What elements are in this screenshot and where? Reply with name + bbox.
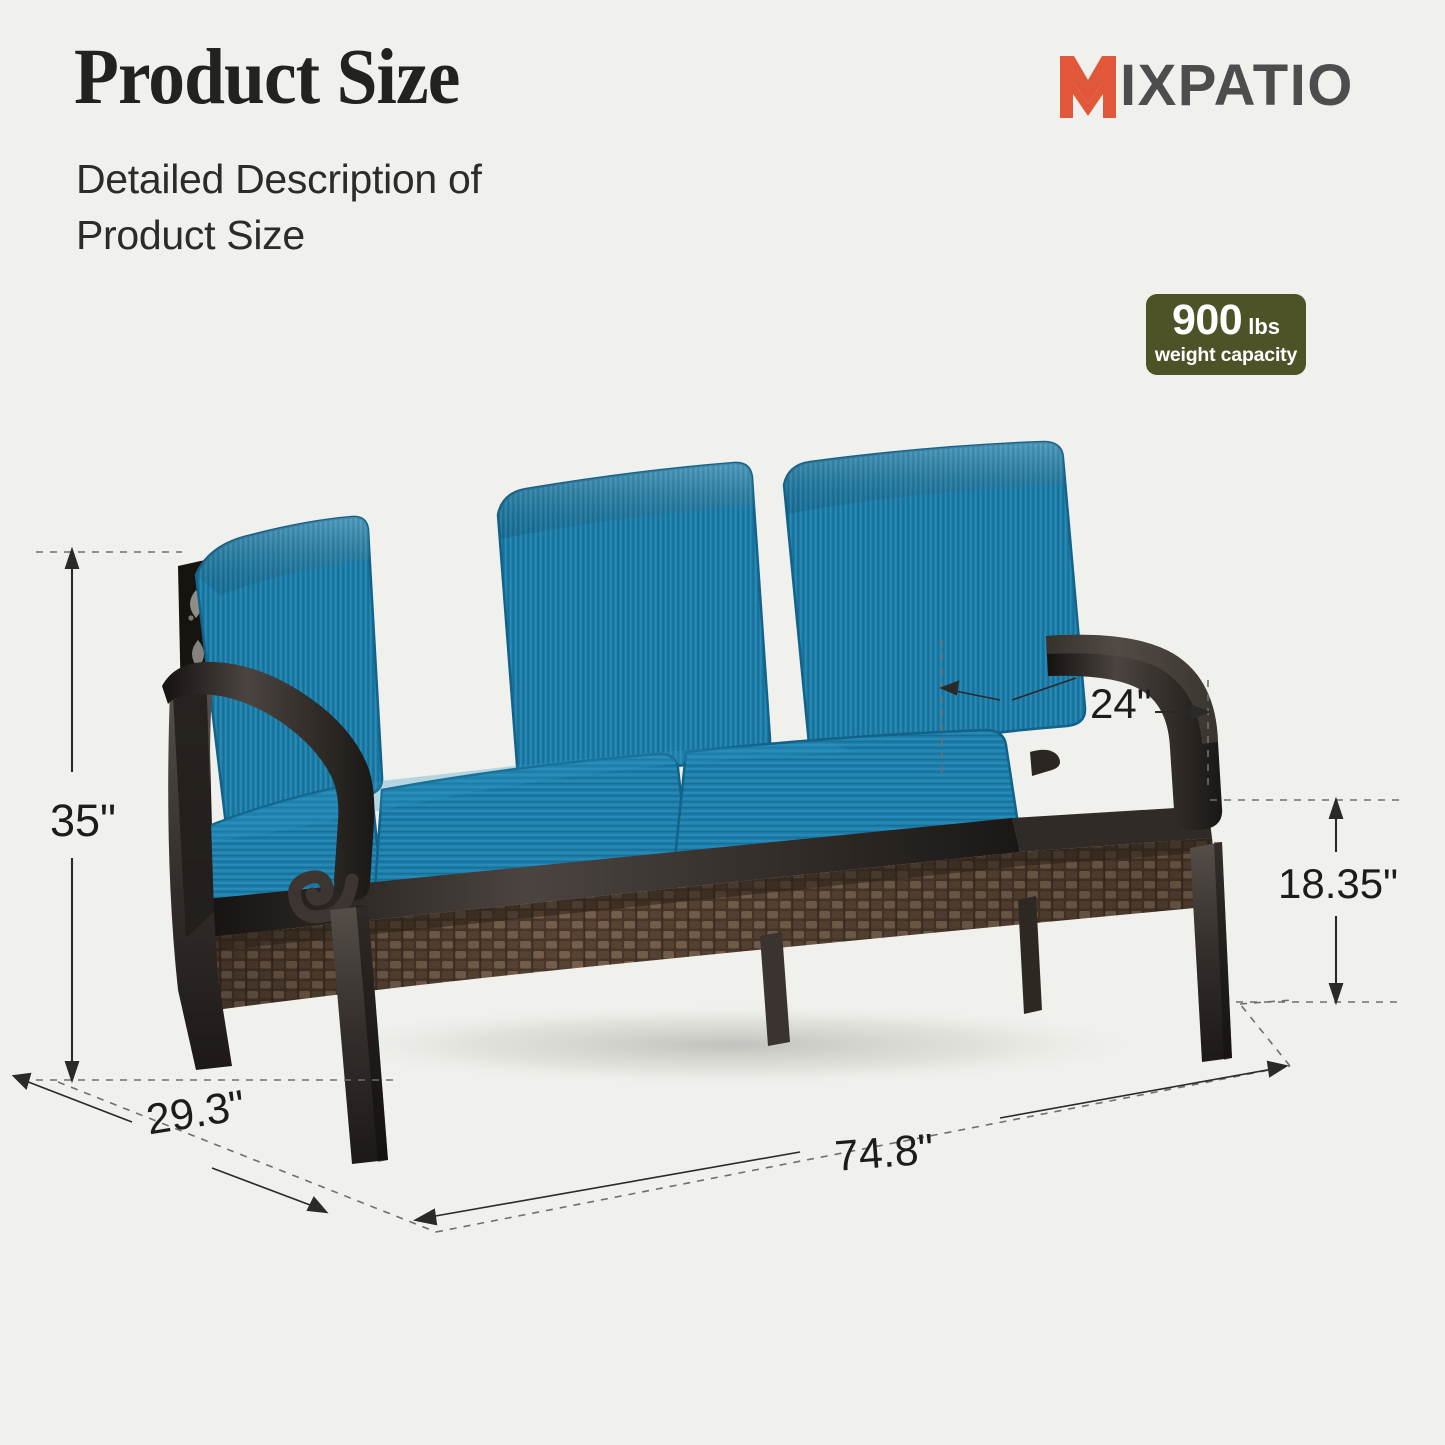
dimension-label-arm-depth: 24" [1090,680,1152,728]
floor-shadow [300,1003,1160,1087]
dimension-label-height: 35" [50,795,116,847]
product-image-sofa [0,0,1445,1445]
infographic-canvas: Product Size Detailed Description of Pro… [0,0,1445,1445]
dimension-label-seat-height: 18.35" [1278,860,1398,908]
arm-right [1046,635,1222,830]
arm-bracket [1030,750,1060,776]
dimension-label-width: 74.8" [833,1125,936,1182]
